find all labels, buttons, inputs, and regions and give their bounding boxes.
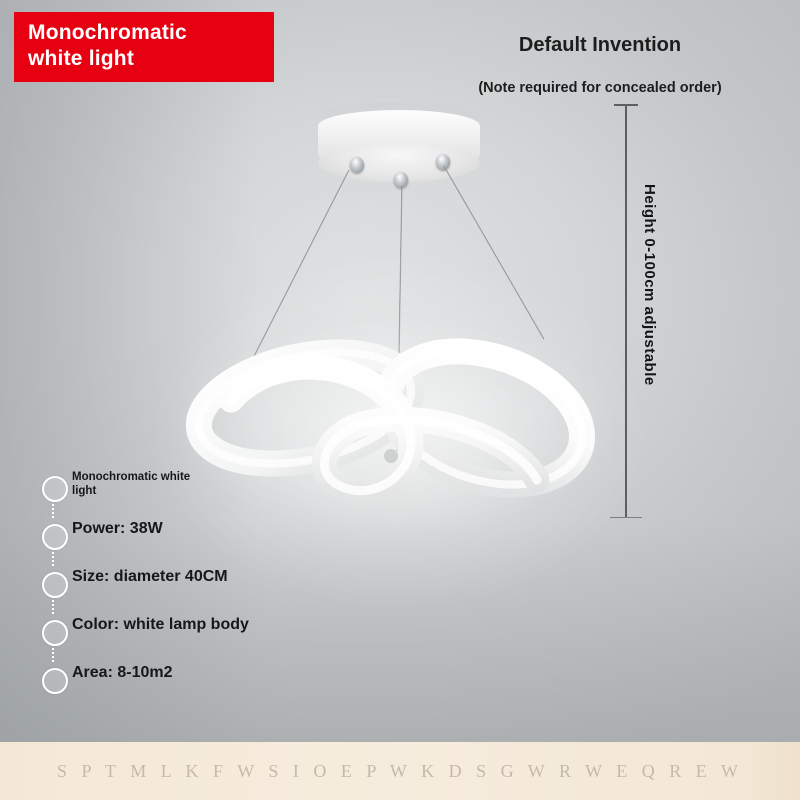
measure-line: [625, 104, 627, 518]
canopy-screw: [350, 157, 364, 173]
header-title: Default Invention: [430, 34, 770, 57]
spec-item-4: Area: 8-10m2: [42, 662, 362, 710]
product-image: Monochromatic white light Default Invent…: [0, 0, 800, 800]
measure-cap-bottom: [610, 517, 642, 518]
footer-strip: S P T M L K F W S I O E P W K D S G W R …: [0, 742, 800, 800]
footer-watermark: S P T M L K F W S I O E P W K D S G W R …: [0, 742, 800, 800]
bullet-connector: [52, 596, 54, 614]
bullet-dot-icon: [42, 620, 68, 646]
bullet-dot-icon: [42, 476, 68, 502]
header-subtitle: (Note required for concealed order): [410, 80, 790, 96]
spec-list: Monochromatic white light Power: 38W Siz…: [42, 470, 362, 710]
bullet-connector: [52, 548, 54, 566]
lamp-center-hub: [384, 449, 398, 463]
badge-line-1: Monochromatic: [28, 20, 262, 46]
bullet-dot-icon: [42, 524, 68, 550]
bullet-connector: [52, 644, 54, 662]
spec-label: Monochromatic white light: [72, 470, 192, 498]
ceiling-canopy: [318, 110, 480, 186]
bullet-connector: [52, 500, 54, 518]
spec-label: Color: white lamp body: [72, 616, 249, 634]
badge-line-2: white light: [28, 46, 262, 72]
spec-label: Power: 38W: [72, 520, 163, 538]
spec-item-0: Monochromatic white light: [42, 470, 362, 518]
badge-monochromatic-white-light: Monochromatic white light: [14, 12, 274, 82]
bullet-dot-icon: [42, 572, 68, 598]
spec-label: Size: diameter 40CM: [72, 568, 228, 586]
spec-item-3: Color: white lamp body: [42, 614, 362, 662]
spec-item-2: Size: diameter 40CM: [42, 566, 362, 614]
spec-item-1: Power: 38W: [42, 518, 362, 566]
bullet-dot-icon: [42, 668, 68, 694]
measure-label: Height 0-100cm adjustable: [641, 184, 658, 386]
spec-label: Area: 8-10m2: [72, 664, 173, 682]
